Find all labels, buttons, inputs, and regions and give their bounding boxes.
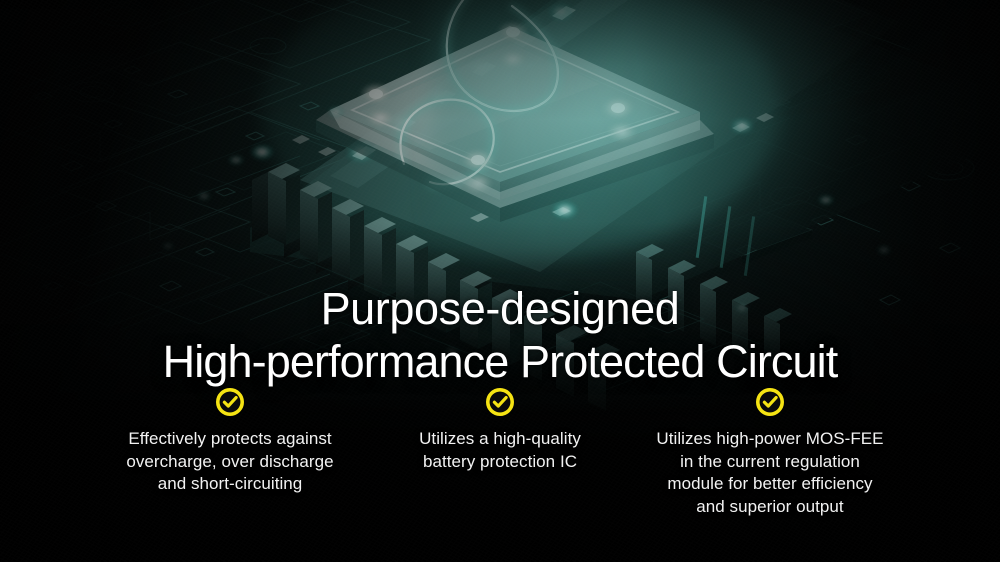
check-circle-icon — [216, 388, 244, 416]
feature-text-line: overcharge, over discharge — [126, 452, 333, 471]
feature-item-1: Effectively protects against overcharge,… — [80, 388, 380, 496]
feature-text-line: Utilizes a high-quality — [419, 429, 581, 448]
page-title: Purpose-designed High-performance Protec… — [0, 282, 1000, 388]
feature-text-line: in the current regulation — [680, 452, 860, 471]
banner-content: Purpose-designed High-performance Protec… — [0, 0, 1000, 562]
feature-item-3: Utilizes high-power MOS-FEE in the curre… — [620, 388, 920, 518]
feature-text-line: and short-circuiting — [158, 474, 303, 493]
feature-text-2: Utilizes a high-quality battery protecti… — [419, 428, 581, 473]
feature-text-line: Effectively protects against — [128, 429, 331, 448]
feature-text-line: battery protection IC — [423, 452, 577, 471]
feature-list: Effectively protects against overcharge,… — [60, 388, 940, 518]
feature-text-line: Utilizes high-power MOS-FEE — [656, 429, 883, 448]
feature-item-2: Utilizes a high-quality battery protecti… — [380, 388, 620, 473]
feature-banner: Purpose-designed High-performance Protec… — [0, 0, 1000, 562]
headline-line-1: Purpose-designed — [0, 282, 1000, 335]
feature-text-1: Effectively protects against overcharge,… — [126, 428, 333, 496]
feature-text-line: module for better efficiency — [667, 474, 872, 493]
check-circle-icon — [756, 388, 784, 416]
headline-line-2: High-performance Protected Circuit — [0, 335, 1000, 388]
check-circle-icon — [486, 388, 514, 416]
feature-text-3: Utilizes high-power MOS-FEE in the curre… — [656, 428, 883, 518]
feature-text-line: and superior output — [696, 497, 843, 516]
